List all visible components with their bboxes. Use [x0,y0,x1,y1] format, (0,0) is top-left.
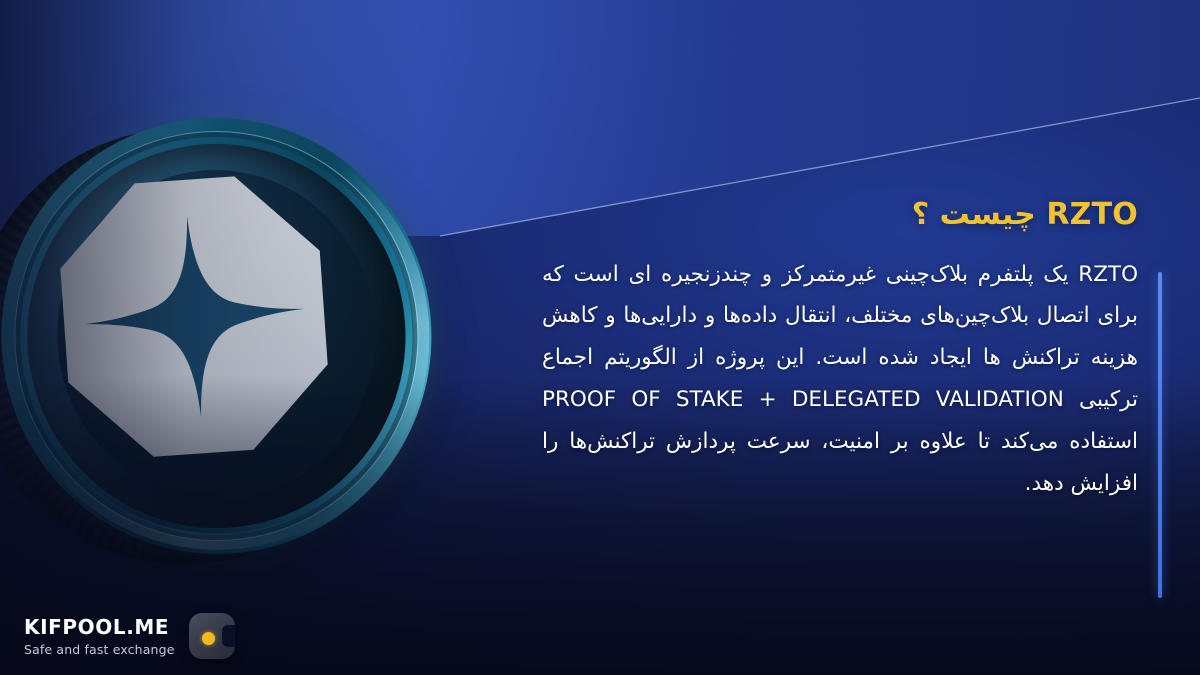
article-body: RZTO یک پلتفرم بلاک‌چینی غیرمتمرکز و چند… [538,254,1138,506]
brand-tagline: Safe and fast exchange [24,642,175,657]
wallet-icon-coin-dot [202,632,215,645]
article-block: RZTO چیست ؟ RZTO یک پلتفرم بلاک‌چینی غیر… [538,196,1138,505]
rzto-coin-graphic [0,118,502,588]
kifpool-logo[interactable]: KIFPOOL.ME Safe and fast exchange [24,613,235,659]
wallet-icon [189,613,235,659]
brand-text-group: KIFPOOL.ME Safe and fast exchange [24,616,175,657]
brand-name: KIFPOOL.ME [24,616,169,639]
rzto-emblem-icon [51,167,338,467]
coin-body [0,104,447,585]
promo-banner: RZTO چیست ؟ RZTO یک پلتفرم بلاک‌چینی غیر… [0,0,1200,675]
accent-bar [1158,272,1162,598]
wallet-icon-notch [222,625,235,647]
page-title: RZTO چیست ؟ [538,196,1138,234]
